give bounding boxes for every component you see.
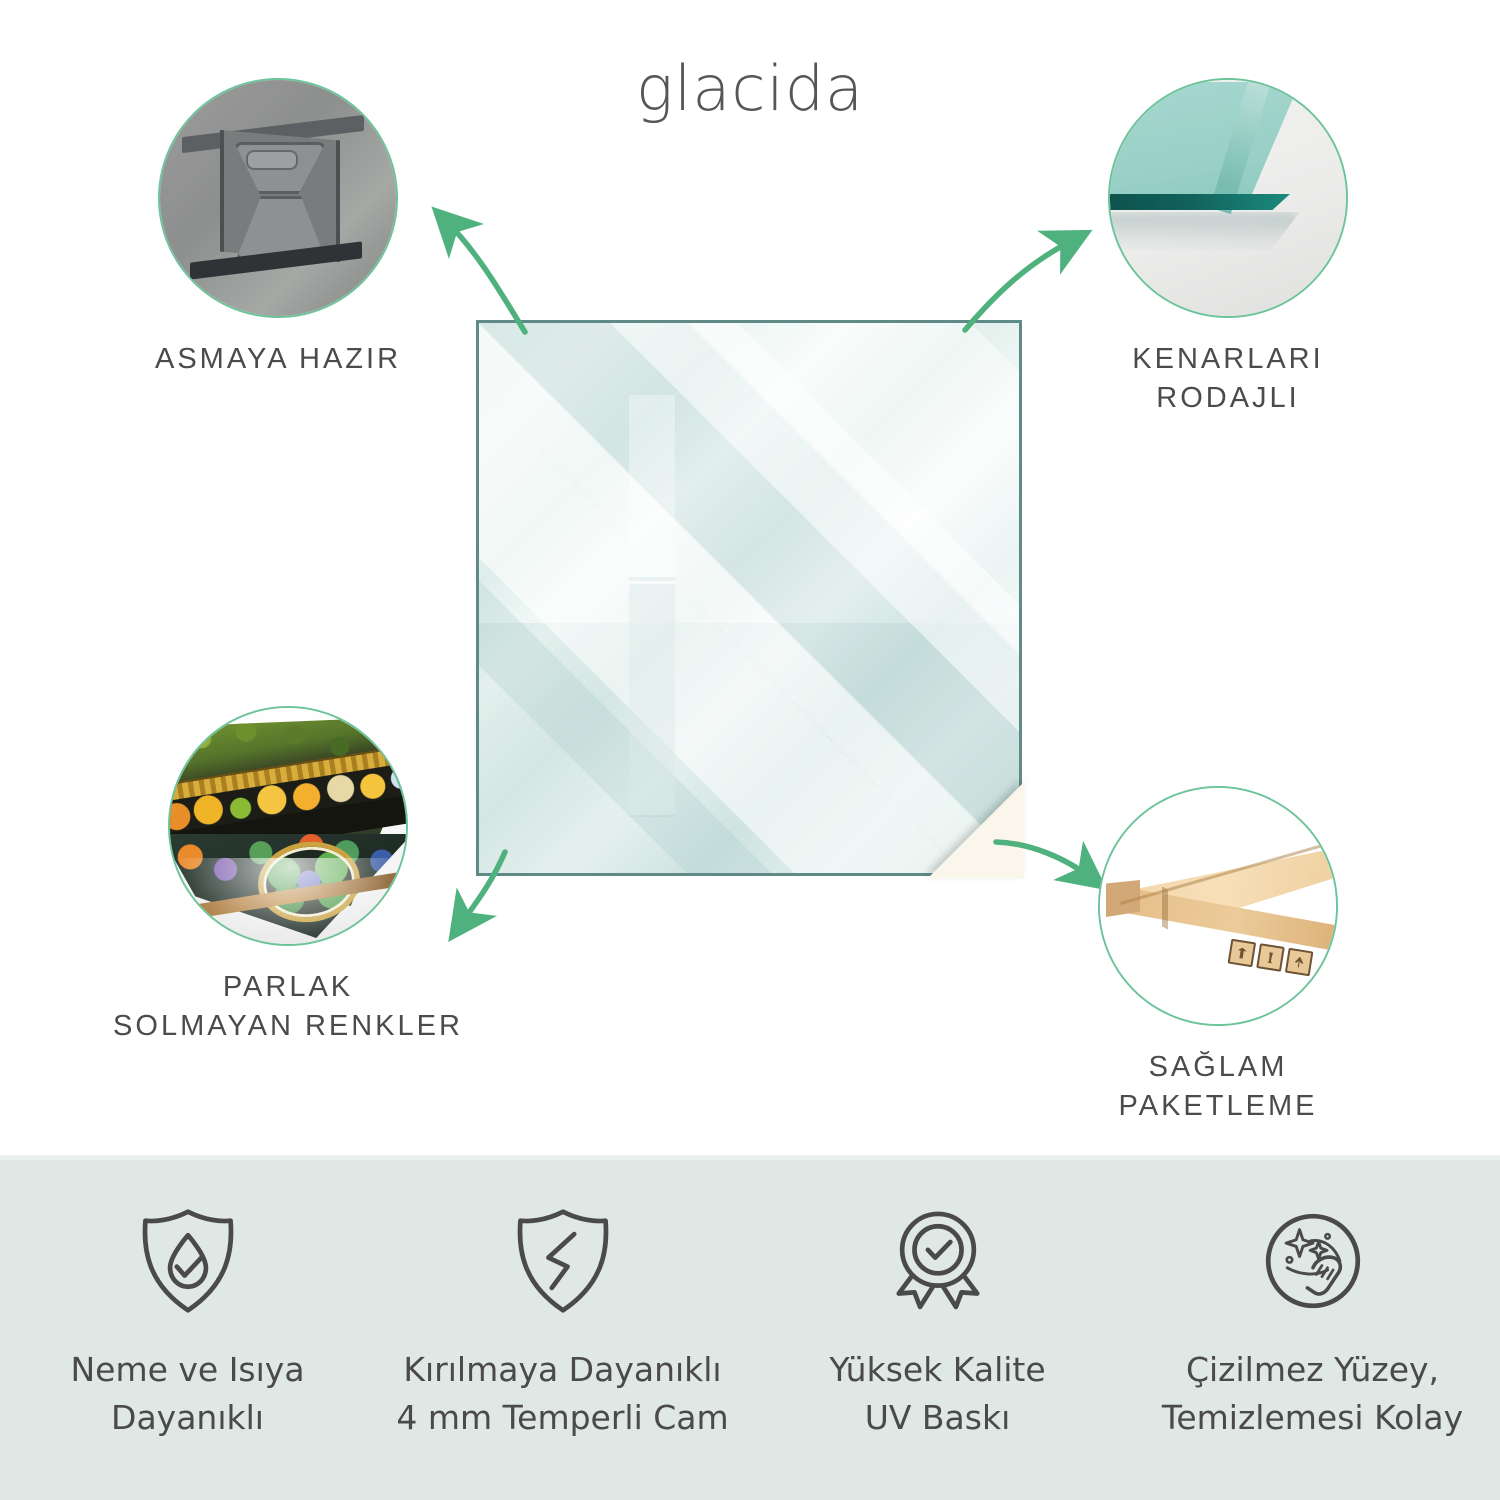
badge-label-line1: PARLAK: [223, 971, 353, 1003]
feature-break-resistant: Kırılmaya Dayanıklı 4 mm Temperli Cam: [375, 1160, 750, 1500]
feature-scratch-free-easy-clean: Çizilmez Yüzey, Temizlemesi Kolay: [1125, 1160, 1500, 1500]
glass-edge-icon: [1110, 80, 1346, 316]
badge-hanging-ready[interactable]: ASMAYA HAZIR: [158, 78, 398, 318]
feature-label-line1: Neme ve Isıya: [70, 1350, 304, 1389]
shield-bolt-icon: [504, 1202, 622, 1320]
feature-label-line2: UV Baskı: [829, 1394, 1045, 1442]
shield-waterdrop-check-icon: [129, 1202, 247, 1320]
badge-image-circle: [1098, 786, 1338, 1026]
badge-image-circle: [158, 78, 398, 318]
badge-label-line2: PAKETLEME: [1119, 1090, 1318, 1122]
feature-label-line1: Çizilmez Yüzey,: [1186, 1350, 1439, 1389]
feature-label: Çizilmez Yüzey, Temizlemesi Kolay: [1162, 1346, 1463, 1442]
peeled-corner-flap: [928, 782, 1024, 878]
badge-label-line2: RODAJLI: [1156, 382, 1299, 414]
badge-label: ASMAYA HAZIR: [68, 340, 488, 379]
badge-label-line2: SOLMAYAN RENKLER: [113, 1010, 463, 1042]
feature-label: Neme ve Isıya Dayanıklı: [70, 1346, 304, 1442]
badge-label: PARLAK SOLMAYAN RENKLER: [78, 968, 498, 1045]
quality-medal-check-icon: [879, 1202, 997, 1320]
feature-label-line1: Yüksek Kalite: [829, 1350, 1045, 1389]
arrow-to-hanging-badge: [447, 222, 525, 332]
infographic-canvas: glacida: [0, 0, 1500, 1500]
badge-label-line1: KENARLARI: [1132, 343, 1323, 375]
feature-label: Yüksek Kalite UV Baskı: [829, 1346, 1045, 1442]
badge-secure-packaging[interactable]: SAĞLAM PAKETLEME: [1098, 786, 1338, 1026]
arrow-to-edges-badge: [965, 240, 1073, 330]
feature-label-line2: Dayanıklı: [70, 1394, 304, 1442]
feature-label-line2: 4 mm Temperli Cam: [396, 1394, 728, 1442]
glass-window-reflection: [629, 577, 675, 817]
badge-label-line1: SAĞLAM: [1149, 1051, 1288, 1083]
feature-high-quality-uv-print: Yüksek Kalite UV Baskı: [750, 1160, 1125, 1500]
feature-band: Neme ve Isıya Dayanıklı Kırılmaya Dayanı…: [0, 1155, 1500, 1500]
feature-label: Kırılmaya Dayanıklı 4 mm Temperli Cam: [396, 1346, 728, 1442]
badge-polished-edges[interactable]: KENARLARI RODAJLI: [1108, 78, 1348, 318]
badge-image-circle: [1108, 78, 1348, 318]
badge-vivid-colors[interactable]: PARLAK SOLMAYAN RENKLER: [168, 706, 408, 946]
glass-window-reflection: [629, 581, 675, 584]
feature-label-line1: Kırılmaya Dayanıklı: [403, 1350, 721, 1389]
feature-label-line2: Temizlemesi Kolay: [1162, 1394, 1463, 1442]
glass-panel-product: [476, 320, 1022, 876]
cardboard-box-icon: [1100, 788, 1336, 1024]
wall-mount-bracket-icon: [160, 80, 396, 316]
feature-moisture-heat-resistant: Neme ve Isıya Dayanıklı: [0, 1160, 375, 1500]
badge-label-line1: ASMAYA HAZIR: [155, 343, 401, 375]
stained-glass-icon: [170, 708, 406, 944]
badge-image-circle: [168, 706, 408, 946]
badge-label: KENARLARI RODAJLI: [1018, 340, 1438, 417]
badge-label: SAĞLAM PAKETLEME: [1008, 1048, 1428, 1125]
sparkle-cleaning-hand-icon: [1254, 1202, 1372, 1320]
